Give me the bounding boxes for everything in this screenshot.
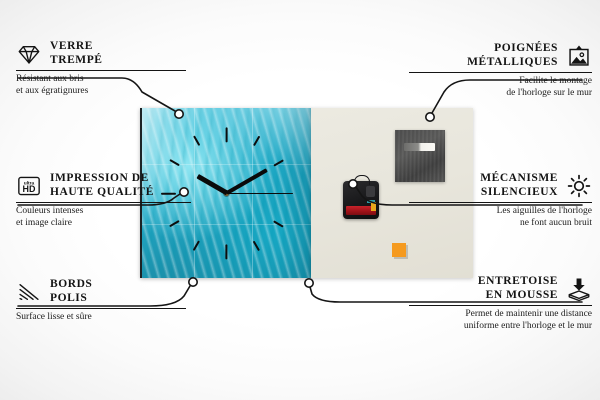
- mechanism-dial: [366, 186, 375, 197]
- feature-description: Permet de maintenir une distance uniform…: [409, 309, 592, 332]
- feature-impression-hd: ultra HD IMPRESSION DE HAUTE QUALITÉ Cou…: [16, 172, 191, 229]
- feature-poignees-metal: POIGNÉES MÉTALLIQUES Facilite le montage…: [409, 42, 592, 99]
- foam-spacer-icon: [566, 276, 592, 302]
- clock-tick: [278, 193, 293, 195]
- clock-tick: [253, 136, 260, 146]
- feature-description: Surface lisse et sûre: [16, 312, 186, 324]
- feature-description: Les aiguilles de l'horloge ne font aucun…: [409, 206, 592, 229]
- feature-header: BORDS POLIS: [16, 278, 186, 305]
- feature-divider: [16, 308, 186, 309]
- clock-hour-hand: [196, 174, 228, 195]
- feature-mecanisme-silence: MÉCANISME SILENCIEUX Les aiguilles de l'…: [409, 172, 592, 229]
- clock-tick: [274, 160, 284, 167]
- clock-second-hand: [227, 193, 281, 195]
- feature-divider: [409, 202, 592, 203]
- feature-header: MÉCANISME SILENCIEUX: [409, 172, 592, 199]
- battery: [346, 206, 376, 215]
- feature-title: VERRE TREMPÉ: [50, 40, 103, 67]
- clock-tick: [226, 244, 228, 259]
- feature-divider: [409, 72, 592, 73]
- feature-title: POIGNÉES MÉTALLIQUES: [467, 42, 558, 69]
- feature-header: POIGNÉES MÉTALLIQUES: [409, 42, 592, 69]
- hanger-slot: [404, 143, 435, 151]
- feature-description: Couleurs intenses et image claire: [16, 206, 191, 229]
- connector-dot-entretoise-mousse: [305, 279, 313, 287]
- infographic-canvas: VERRE TREMPÉ Résistant aux bris et aux é…: [0, 0, 600, 400]
- gear-icon: [566, 173, 592, 199]
- clock-center-cap: [224, 191, 229, 196]
- feature-title: MÉCANISME SILENCIEUX: [480, 172, 558, 199]
- feature-verre-trempe: VERRE TREMPÉ Résistant aux bris et aux é…: [16, 40, 186, 97]
- clock-tick: [193, 136, 200, 146]
- feature-divider: [16, 202, 191, 203]
- connector-dot-bords-polis: [189, 278, 197, 286]
- polished-edge-icon: [16, 279, 42, 305]
- clock-tick: [253, 241, 260, 251]
- clock-tick: [274, 220, 284, 227]
- diamond-icon: [16, 41, 42, 67]
- ultra-hd-main-label: HD: [23, 184, 36, 194]
- clock-tick: [169, 160, 179, 167]
- feature-divider: [409, 305, 592, 306]
- clock-tick: [226, 127, 228, 142]
- feature-title: BORDS POLIS: [50, 278, 92, 305]
- glass-seam: [140, 164, 311, 165]
- feature-header: ultra HD IMPRESSION DE HAUTE QUALITÉ: [16, 172, 191, 199]
- feature-entretoise-mousse: ENTRETOISE EN MOUSSE Permet de maintenir…: [409, 275, 592, 332]
- feature-title: IMPRESSION DE HAUTE QUALITÉ: [50, 172, 154, 199]
- feature-description: Résistant aux bris et aux égratignures: [16, 74, 186, 97]
- clock-mechanism: [343, 181, 379, 219]
- clock-minute-hand: [225, 169, 267, 196]
- glass-seam: [194, 108, 195, 278]
- ultra-hd-icon: ultra HD: [16, 173, 42, 199]
- foam-spacer-pad: [392, 243, 406, 257]
- feature-description: Facilite le montage de l'horloge sur le …: [409, 76, 592, 99]
- glass-seam: [252, 108, 253, 278]
- clock-tick: [193, 241, 200, 251]
- picture-hanger-icon: [566, 43, 592, 69]
- feature-bords-polis: BORDS POLIS Surface lisse et sûre: [16, 278, 186, 324]
- feature-title: ENTRETOISE EN MOUSSE: [478, 275, 558, 302]
- feature-divider: [16, 70, 186, 71]
- battery-terminal: [371, 202, 376, 211]
- mechanism-hook: [354, 175, 370, 185]
- feature-header: ENTRETOISE EN MOUSSE: [409, 275, 592, 302]
- feature-header: VERRE TREMPÉ: [16, 40, 186, 67]
